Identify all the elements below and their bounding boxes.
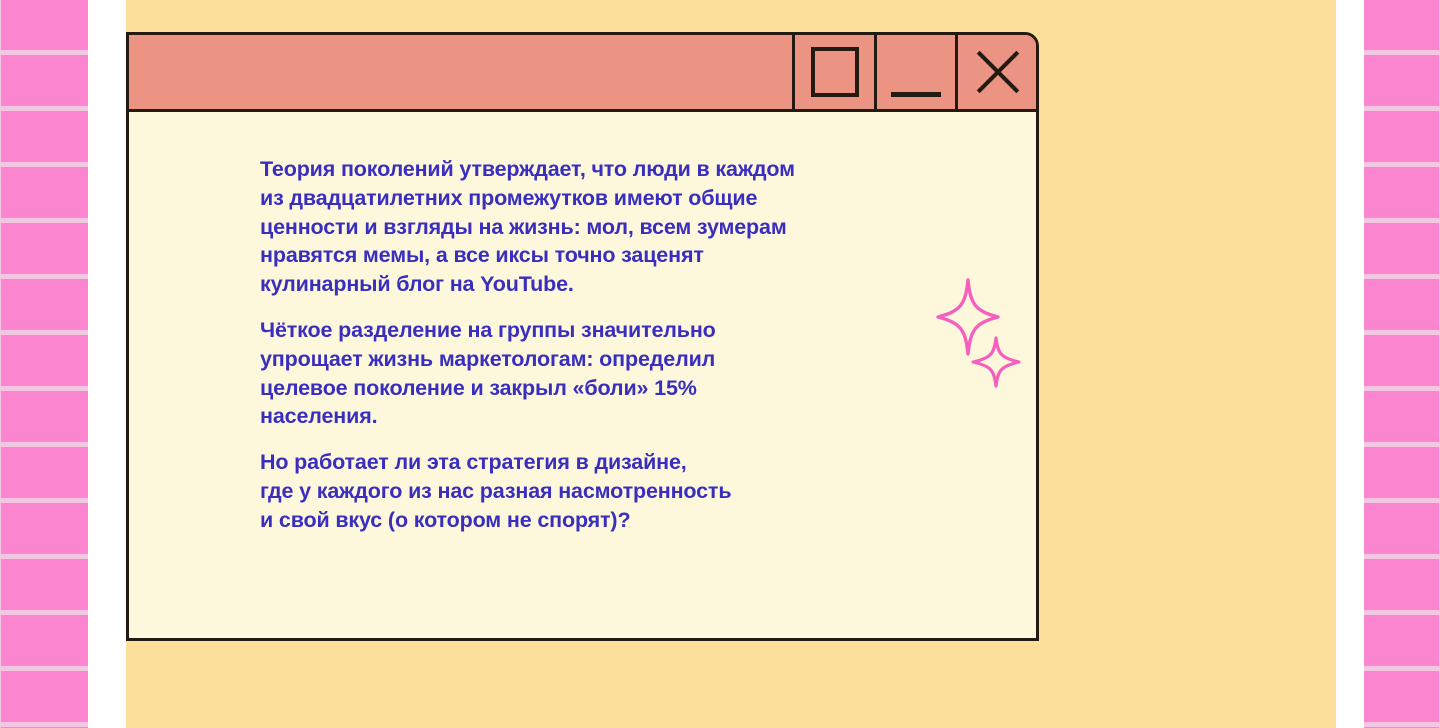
sparkle-small-icon <box>971 336 1021 388</box>
window-content: Теория поколений утверждает, что люди в … <box>129 112 1036 638</box>
window-title[interactable] <box>129 35 792 109</box>
paragraph-3: Но работает ли эта стратегия в дизайне, … <box>260 448 900 534</box>
window-close-button[interactable] <box>955 35 1036 109</box>
slide-root: Теория поколений утверждает, что люди в … <box>0 0 1440 728</box>
body-copy: Теория поколений утверждает, что люди в … <box>260 155 900 535</box>
paragraph-1: Теория поколений утверждает, что люди в … <box>260 155 900 299</box>
window-maximize-button[interactable] <box>792 35 874 109</box>
app-window: Теория поколений утверждает, что люди в … <box>126 32 1039 641</box>
window-titlebar[interactable] <box>129 35 1036 112</box>
minimize-icon <box>891 92 941 97</box>
slide-stage: Теория поколений утверждает, что люди в … <box>126 0 1336 728</box>
close-icon <box>972 47 1022 97</box>
pink-tile-panel-left <box>0 0 88 728</box>
paragraph-2: Чёткое разделение на группы значительно … <box>260 316 900 431</box>
window-minimize-button[interactable] <box>874 35 955 109</box>
maximize-icon <box>811 47 859 97</box>
pink-tile-panel-right <box>1364 0 1440 728</box>
